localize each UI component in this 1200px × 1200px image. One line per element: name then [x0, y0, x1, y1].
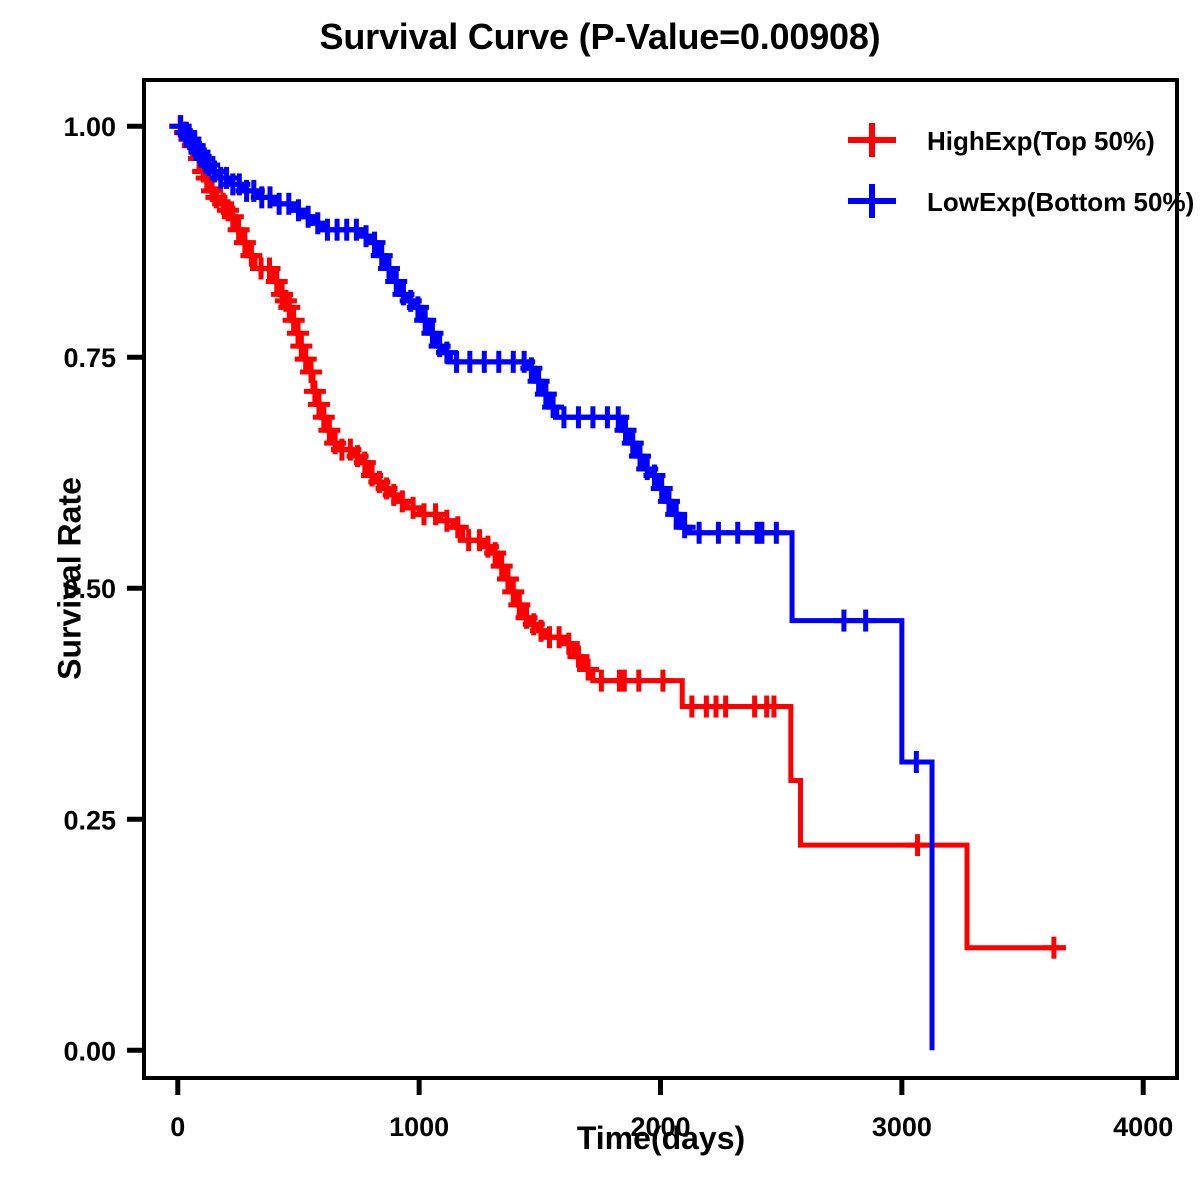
censor-plus-icon: [304, 380, 326, 402]
censor-plus-icon: [751, 522, 773, 544]
censor-plus-icon: [283, 309, 305, 331]
legend-item[interactable]: HighExp(Top 50%): [848, 123, 1155, 157]
y-tick-label: 0.25: [63, 805, 116, 835]
y-tick-label: 0.75: [63, 343, 116, 373]
x-axis-ticks: 01000200030004000: [170, 1078, 1173, 1142]
series-layer: [169, 115, 1066, 1050]
censor-plus-icon: [907, 834, 929, 856]
legend-label: HighExp(Top 50%): [927, 126, 1155, 156]
censor-plus-icon: [628, 670, 650, 692]
axis-frame: [144, 80, 1177, 1078]
censor-plus-icon: [905, 751, 927, 773]
survival-curve-figure: Survival Curve (P-Value=0.00908) Surviva…: [0, 0, 1200, 1200]
censor-plus-icon: [833, 610, 855, 632]
censor-plus-icon: [707, 522, 729, 544]
series-lowexp-bottom-50-: [170, 115, 932, 1050]
x-tick-label: 2000: [630, 1112, 690, 1142]
y-axis-ticks: 0.000.250.500.751.00: [63, 112, 144, 1066]
y-tick-label: 0.50: [63, 574, 116, 604]
x-tick-label: 0: [170, 1112, 185, 1142]
step-line: [178, 126, 932, 1050]
censor-plus-icon: [855, 610, 877, 632]
y-tick-label: 0.00: [63, 1036, 116, 1066]
censor-plus-icon: [290, 335, 312, 357]
plot-area: 01000200030004000 0.000.250.500.751.00 H…: [0, 0, 1200, 1200]
censor-plus-icon: [287, 322, 309, 344]
x-tick-label: 3000: [872, 1112, 932, 1142]
x-tick-label: 4000: [1113, 1112, 1173, 1142]
censor-plus-icon: [727, 522, 749, 544]
censor-plus-icon: [1043, 937, 1065, 959]
legend-label: LowExp(Bottom 50%): [927, 187, 1194, 217]
censor-plus-icon: [652, 670, 674, 692]
plot-border: [144, 80, 1177, 1078]
legend-item[interactable]: LowExp(Bottom 50%): [848, 184, 1194, 218]
chart-legend: HighExp(Top 50%)LowExp(Bottom 50%): [848, 123, 1194, 218]
y-tick-label: 1.00: [63, 112, 116, 142]
x-tick-label: 1000: [389, 1112, 449, 1142]
censor-plus-icon: [308, 393, 330, 415]
